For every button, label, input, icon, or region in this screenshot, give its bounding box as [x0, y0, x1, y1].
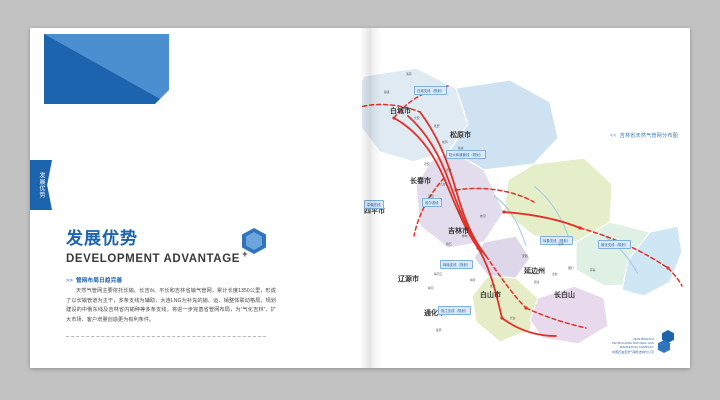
- company-logo: JILIN BRANCH PETROCHINA NATURAL GAS MARK…: [612, 330, 676, 354]
- sub-heading-marker: >>: [66, 278, 73, 284]
- town-label: 永吉: [458, 210, 464, 214]
- town-label: 农安: [424, 162, 430, 166]
- city-label-changchun: 长春市: [410, 176, 431, 186]
- jilin-province-map: [362, 46, 684, 346]
- pipeline-label-haerbin: 哈尔滨线: [422, 198, 442, 207]
- city-label-baishan: 白山市: [480, 290, 501, 300]
- town-label: 龙井: [552, 272, 558, 276]
- pipeline-label-songyuan: 松大和道管线（规划）: [446, 150, 486, 159]
- town-label: 桦甸: [462, 234, 468, 238]
- company-logo-text: JILIN BRANCH PETROCHINA NATURAL GAS MARK…: [612, 337, 654, 354]
- pipeline-label-huinan: 辉南支线（规划）: [440, 260, 473, 269]
- pipeline-label-linjiang: 临江支线（规划）: [438, 306, 471, 315]
- town-label: 九台: [440, 182, 446, 186]
- town-label: 图们: [568, 266, 574, 270]
- town-label: 大安: [414, 116, 420, 120]
- brochure-spread: 发展优势 发展优势 DEVELOPMENT ADVANTAGE+ >>管网布局日…: [30, 28, 690, 368]
- town-label: 乾安: [434, 124, 440, 128]
- body-copy-block: >>管网布局日趋完善 天然气管网主要依托长输、长吉ði、平长和吉林省输气管网，累…: [66, 276, 276, 337]
- town-label: 长白: [510, 316, 516, 320]
- town-label: 汪清: [558, 242, 564, 246]
- pipeline-label-hunchun: 珲春支线（规划）: [540, 236, 573, 245]
- town-label: 扶余: [458, 146, 464, 150]
- body-paragraph: 天然气管网主要依托长输、长吉ði、平长和吉林省输气管网，累计长度1350公里，形…: [66, 287, 276, 326]
- city-label-liaoyuan: 辽源市: [398, 274, 419, 284]
- sub-heading-text: 管网布局日趋完善: [76, 278, 122, 284]
- town-label: 德惠: [446, 168, 452, 172]
- town-label: 安图: [522, 254, 528, 258]
- shape-notch: [155, 90, 169, 104]
- pipeline-label-baicheng: 白城支线（规划）: [414, 86, 447, 95]
- pipeline-label-dunhua: 敦化支线（规划）: [598, 240, 631, 249]
- town-label: 和龙: [534, 280, 540, 284]
- town-label: 磐石: [446, 242, 452, 246]
- company-hexagon-icon: [658, 330, 676, 354]
- town-label: 梅河口: [434, 272, 442, 276]
- pipeline-label-zhonge: 中俄东线: [364, 200, 384, 209]
- page-title-cn: 发展优势: [66, 224, 306, 249]
- map-panel: <<吉林省天然气管网分布图 白城市 松原市 长春市 四平市 吉林市 延边州 辽源…: [362, 28, 690, 368]
- town-label: 珲春: [590, 268, 596, 272]
- top-left-decorative-shape: [44, 34, 169, 104]
- town-label: 镇赉: [384, 90, 390, 94]
- page-title-en: DEVELOPMENT ADVANTAGE+: [66, 253, 240, 265]
- city-label-songyuan: 松原市: [450, 130, 471, 140]
- side-tab-label: 发展优势: [38, 172, 44, 198]
- title-block: 发展优势 DEVELOPMENT ADVANTAGE+: [66, 224, 306, 267]
- map-title-marker: <<: [610, 133, 616, 139]
- side-tab-development-advantage: 发展优势: [30, 160, 52, 210]
- map-title-text: 吉林省天然气管网分布图: [620, 133, 678, 139]
- dashed-divider: [66, 336, 266, 337]
- town-label: 蛟河: [480, 214, 486, 218]
- body-sub-heading: >>管网布局日趋完善: [66, 276, 276, 284]
- town-label: 集安: [436, 328, 442, 332]
- town-label: 前郭: [442, 140, 448, 144]
- city-label-yanbian: 延边州: [524, 266, 545, 276]
- page-title-en-text: DEVELOPMENT ADVANTAGE: [66, 253, 240, 265]
- town-label: 洮南: [406, 72, 412, 76]
- city-label-changbaishan: 长白山: [554, 290, 575, 300]
- town-label: 抚松: [490, 284, 496, 288]
- hexagon-accent-icon: [242, 228, 266, 254]
- town-label: 双阳: [428, 194, 434, 198]
- town-label: 柳河: [428, 286, 434, 290]
- city-label-baicheng: 白城市: [390, 106, 411, 116]
- town-label: 靖宇: [470, 278, 476, 282]
- map-title: <<吉林省天然气管网分布图: [610, 132, 678, 139]
